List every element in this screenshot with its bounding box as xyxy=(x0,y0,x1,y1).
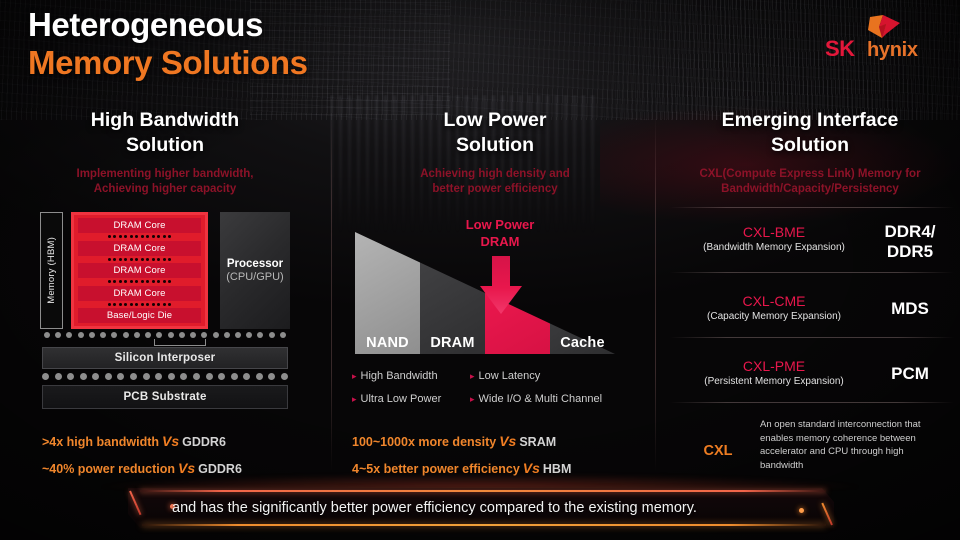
pcb-substrate-label: PCB Substrate xyxy=(123,391,206,403)
column-3-heading-line1: Emerging Interface xyxy=(660,108,960,133)
base-logic-die: Base/Logic Die xyxy=(78,308,201,323)
tsv-dots xyxy=(78,235,201,239)
caption-glow xyxy=(100,474,860,488)
column-2-subtitle: Achieving high density and better power … xyxy=(330,167,660,197)
cxl-overview-name: CXL xyxy=(704,443,733,459)
hierarchy-segment-nand: NAND xyxy=(355,232,420,354)
cxl-row-cme: CXL-CME (Capacity Memory Expansion) MDS xyxy=(676,293,948,322)
column-low-power: Low Power Solution Achieving high densit… xyxy=(330,108,660,197)
processor-title: Processor xyxy=(227,258,283,270)
bullet-arrow-icon: ▸ xyxy=(352,371,361,381)
page-title-line2: Memory Solutions xyxy=(28,44,308,82)
hierarchy-label-nand: NAND xyxy=(355,335,420,351)
cxl-overview-desc-line4: bandwidth xyxy=(760,459,948,473)
cxl-row-separator xyxy=(670,207,954,208)
column-1-subtitle-line1: Implementing higher bandwidth, xyxy=(77,168,254,180)
logo-text-sk: SK xyxy=(825,36,855,62)
cxl-overview-description: An open standard interconnection that en… xyxy=(760,418,948,472)
slide-root: Heterogeneous Memory Solutions SK hynix … xyxy=(0,0,960,540)
page-title-line1: Heterogeneous xyxy=(28,6,308,44)
lp-claim-1-target: SRAM xyxy=(519,435,556,449)
cxl-row-separator xyxy=(670,272,954,273)
cxl-overview-desc-line1: An open standard interconnection that xyxy=(760,418,948,432)
hierarchy-segment-dram: DRAM xyxy=(420,232,485,354)
memory-hbm-label: Memory (HBM) xyxy=(40,212,63,329)
column-1-subtitle-line2: Achieving higher capacity xyxy=(0,182,330,197)
hierarchy-segment-cache: Cache xyxy=(550,232,615,354)
cxl-cme-value-line1: MDS xyxy=(872,299,948,319)
lp-feature-1-label: Low Latency xyxy=(479,370,541,382)
low-power-dram-callout-line1: Low Power xyxy=(440,216,560,233)
cxl-overview-desc-line2: enables memory coherence between xyxy=(760,432,948,446)
column-3-subtitle-line1: CXL(Compute Express Link) Memory for xyxy=(699,168,920,180)
cxl-cme-expansion: (Capacity Memory Expansion) xyxy=(676,311,872,322)
hbm-claim-1-target: GDDR6 xyxy=(182,435,226,449)
dram-core-die: DRAM Core xyxy=(78,286,201,301)
column-high-bandwidth: High Bandwidth Solution Implementing hig… xyxy=(0,108,330,197)
pcb-substrate-bar: PCB Substrate xyxy=(42,385,288,409)
hbm-claim-1-metric: >4x high bandwidth xyxy=(42,435,159,449)
lp-claim-1-vs: Vs xyxy=(496,433,519,449)
processor-block: Processor (CPU/GPU) xyxy=(220,212,290,329)
memory-hbm-label-text: Memory (HBM) xyxy=(46,237,57,304)
low-power-dram-callout: Low Power DRAM xyxy=(440,216,560,250)
lp-claim-1-metric: 100~1000x more density xyxy=(352,435,496,449)
cxl-row-bme: CXL-BME (Bandwidth Memory Expansion) DDR… xyxy=(676,224,948,253)
bullet-arrow-icon: ▸ xyxy=(470,394,479,404)
column-2-heading-line1: Low Power xyxy=(330,108,660,133)
column-2-subtitle-line2: better power efficiency xyxy=(330,182,660,197)
interconnect-bracket xyxy=(154,339,206,346)
dram-core-die: DRAM Core xyxy=(78,218,201,233)
silicon-interposer-label: Silicon Interposer xyxy=(115,352,216,364)
sk-hynix-wordmark: SK hynix xyxy=(822,36,938,62)
cxl-bme-name: CXL-BME xyxy=(676,224,872,240)
processor-subtitle: (CPU/GPU) xyxy=(226,271,283,283)
column-1-heading-line2: Solution xyxy=(0,133,330,158)
hierarchy-label-dram: DRAM xyxy=(420,335,485,351)
column-emerging-interface: Emerging Interface Solution CXL(Compute … xyxy=(660,108,960,197)
sk-hynix-logo: SK hynix xyxy=(822,14,938,66)
column-1-heading: High Bandwidth Solution xyxy=(0,108,330,158)
column-3-heading: Emerging Interface Solution xyxy=(660,108,960,158)
page-title: Heterogeneous Memory Solutions xyxy=(28,6,308,82)
tsv-dots xyxy=(78,280,201,284)
column-1-subtitle: Implementing higher bandwidth, Achieving… xyxy=(0,167,330,197)
lp-feature-3-label: Wide I/O & Multi Channel xyxy=(479,393,603,405)
hbm-claim-1-vs: Vs xyxy=(159,433,182,449)
hbm-package-diagram: Memory (HBM) DRAM Core DRAM Core DRAM Co… xyxy=(40,212,290,329)
hierarchy-label-cache: Cache xyxy=(550,335,615,351)
tsv-dots xyxy=(78,302,201,306)
lp-feature-3: ▸Wide I/O & Multi Channel xyxy=(470,393,602,405)
microbump-row xyxy=(44,332,286,338)
column-2-heading: Low Power Solution xyxy=(330,108,660,158)
cxl-bme-value-line2: DDR5 xyxy=(872,242,948,262)
dram-core-die: DRAM Core xyxy=(78,263,201,278)
dram-core-die: DRAM Core xyxy=(78,241,201,256)
logo-text-hynix: hynix xyxy=(867,39,918,62)
cxl-row-overview: CXL An open standard interconnection tha… xyxy=(676,418,948,472)
cxl-row-pme: CXL-PME (Persistent Memory Expansion) PC… xyxy=(676,358,948,387)
cxl-bme-expansion: (Bandwidth Memory Expansion) xyxy=(676,242,872,253)
low-power-dram-callout-line2: DRAM xyxy=(440,233,560,250)
lp-feature-2-label: Ultra Low Power xyxy=(361,393,442,405)
column-2-subtitle-line1: Achieving high density and xyxy=(420,168,570,180)
caption-bar: and has the significantly better power e… xyxy=(128,488,834,528)
down-arrow-icon xyxy=(480,256,522,314)
lp-feature-0: ▸High Bandwidth xyxy=(352,370,438,382)
bullet-arrow-icon: ▸ xyxy=(352,394,361,404)
column-2-heading-line2: Solution xyxy=(330,133,660,158)
cxl-pme-value-line1: PCM xyxy=(872,364,948,384)
lp-feature-1: ▸Low Latency xyxy=(470,370,540,382)
column-3-heading-line2: Solution xyxy=(660,133,960,158)
hbm-claim-1: >4x high bandwidthVsGDDR6 xyxy=(42,433,226,449)
cxl-row-separator xyxy=(670,337,954,338)
column-3-subtitle-line2: Bandwidth/Capacity/Persistency xyxy=(660,182,960,197)
caption-right-dot-icon xyxy=(799,508,804,513)
caption-text: and has the significantly better power e… xyxy=(172,488,792,528)
cxl-cme-name: CXL-CME xyxy=(676,293,872,309)
cxl-bme-value-line1: DDR4/ xyxy=(872,222,948,242)
cxl-pme-expansion: (Persistent Memory Expansion) xyxy=(676,376,872,387)
cxl-pme-value: PCM xyxy=(872,364,948,384)
lp-claim-1: 100~1000x more densityVsSRAM xyxy=(352,433,556,449)
tsv-dots xyxy=(78,257,201,261)
cxl-bme-value: DDR4/ DDR5 xyxy=(872,222,948,262)
column-3-subtitle: CXL(Compute Express Link) Memory for Ban… xyxy=(660,167,960,197)
solder-ball-row xyxy=(42,373,288,380)
silicon-interposer-bar: Silicon Interposer xyxy=(42,347,288,369)
lp-feature-0-label: High Bandwidth xyxy=(361,370,438,382)
column-1-heading-line1: High Bandwidth xyxy=(0,108,330,133)
hbm-die-stack: DRAM Core DRAM Core DRAM Core DRAM Core … xyxy=(71,212,208,329)
cxl-overview-desc-line3: accelerator and CPU through high xyxy=(760,445,948,459)
cxl-row-separator xyxy=(670,402,954,403)
bullet-arrow-icon: ▸ xyxy=(470,371,479,381)
cxl-pme-name: CXL-PME xyxy=(676,358,872,374)
cxl-cme-value: MDS xyxy=(872,299,948,319)
lp-feature-2: ▸Ultra Low Power xyxy=(352,393,441,405)
